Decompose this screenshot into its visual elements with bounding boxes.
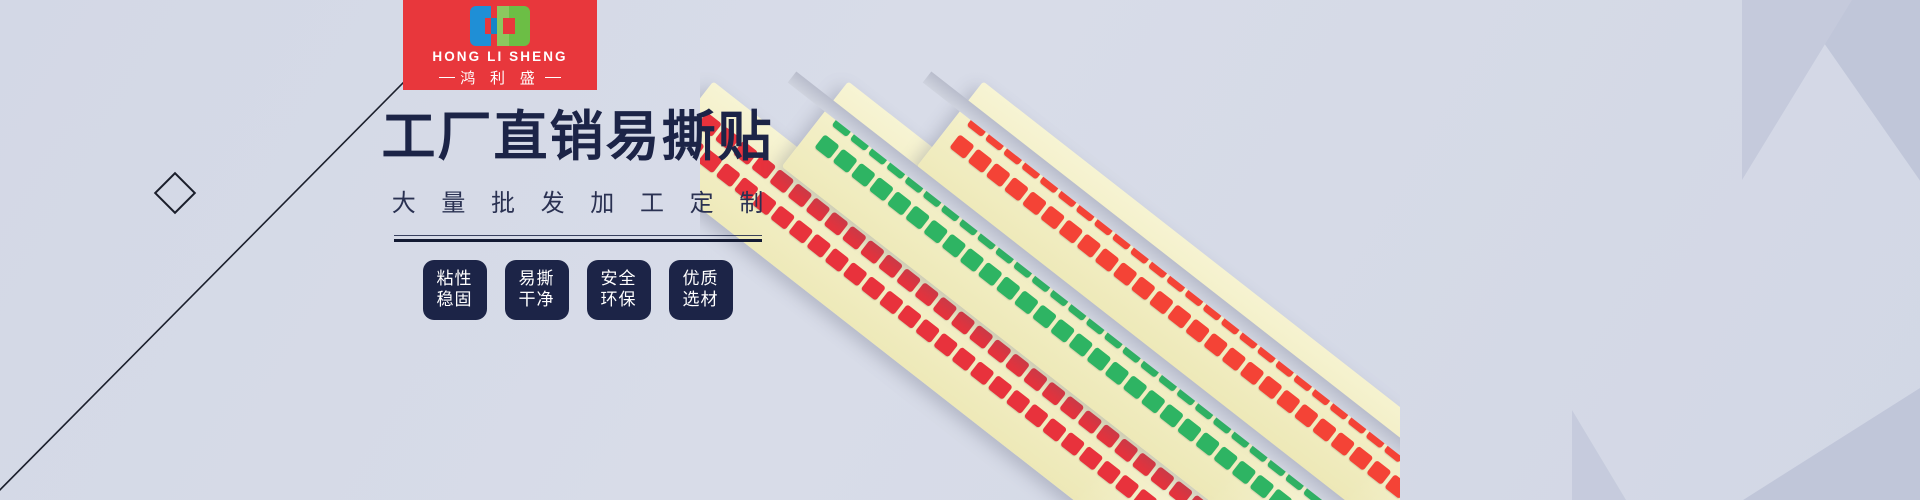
feature-badge[interactable]: 安全环保 [587,260,651,320]
logo-bar-right-icon [545,77,561,79]
sticker-strips [700,0,1400,500]
page-title: 工厂直销易撕贴 [382,110,774,164]
promo-banner: HONG LI SHENG 鸿 利 盛 工厂直销易撕贴 大 量 批 发 加 工 … [0,0,1920,500]
badge-line-2: 环保 [601,290,637,311]
badge-line-1: 粘性 [437,269,473,290]
divider-thick [394,239,762,242]
headline-block: 工厂直销易撕贴 大 量 批 发 加 工 定 制 粘性稳固易撕干净安全环保优质选材 [390,110,765,320]
product-photo [700,0,1400,500]
badge-line-1: 优质 [683,269,719,290]
triangle-decor-top-right-2 [1742,0,1852,180]
badge-line-2: 干净 [519,290,555,311]
diamond-outline-icon [154,172,196,214]
badge-line-2: 选材 [683,290,719,311]
badge-line-2: 稳固 [437,290,473,311]
page-subtitle: 大 量 批 发 加 工 定 制 [383,183,772,218]
hls-monogram-icon [470,4,530,48]
feature-badge[interactable]: 优质选材 [669,260,733,320]
triangle-decor-bottom-right-2 [1572,410,1662,500]
divider [394,235,762,242]
feature-badge[interactable]: 易撕干净 [505,260,569,320]
triangle-decor-bottom-right [1680,350,1920,500]
logo-chinese-row: 鸿 利 盛 [439,67,561,88]
company-logo: HONG LI SHENG 鸿 利 盛 [403,0,597,90]
feature-badges: 粘性稳固易撕干净安全环保优质选材 [423,260,733,320]
logo-bar-left-icon [439,77,455,79]
logo-english-name: HONG LI SHENG [432,49,567,64]
divider-thin [394,235,762,236]
logo-chinese-name: 鸿 利 盛 [460,67,540,88]
badge-line-1: 易撕 [519,269,555,290]
badge-line-1: 安全 [601,269,637,290]
feature-badge[interactable]: 粘性稳固 [423,260,487,320]
